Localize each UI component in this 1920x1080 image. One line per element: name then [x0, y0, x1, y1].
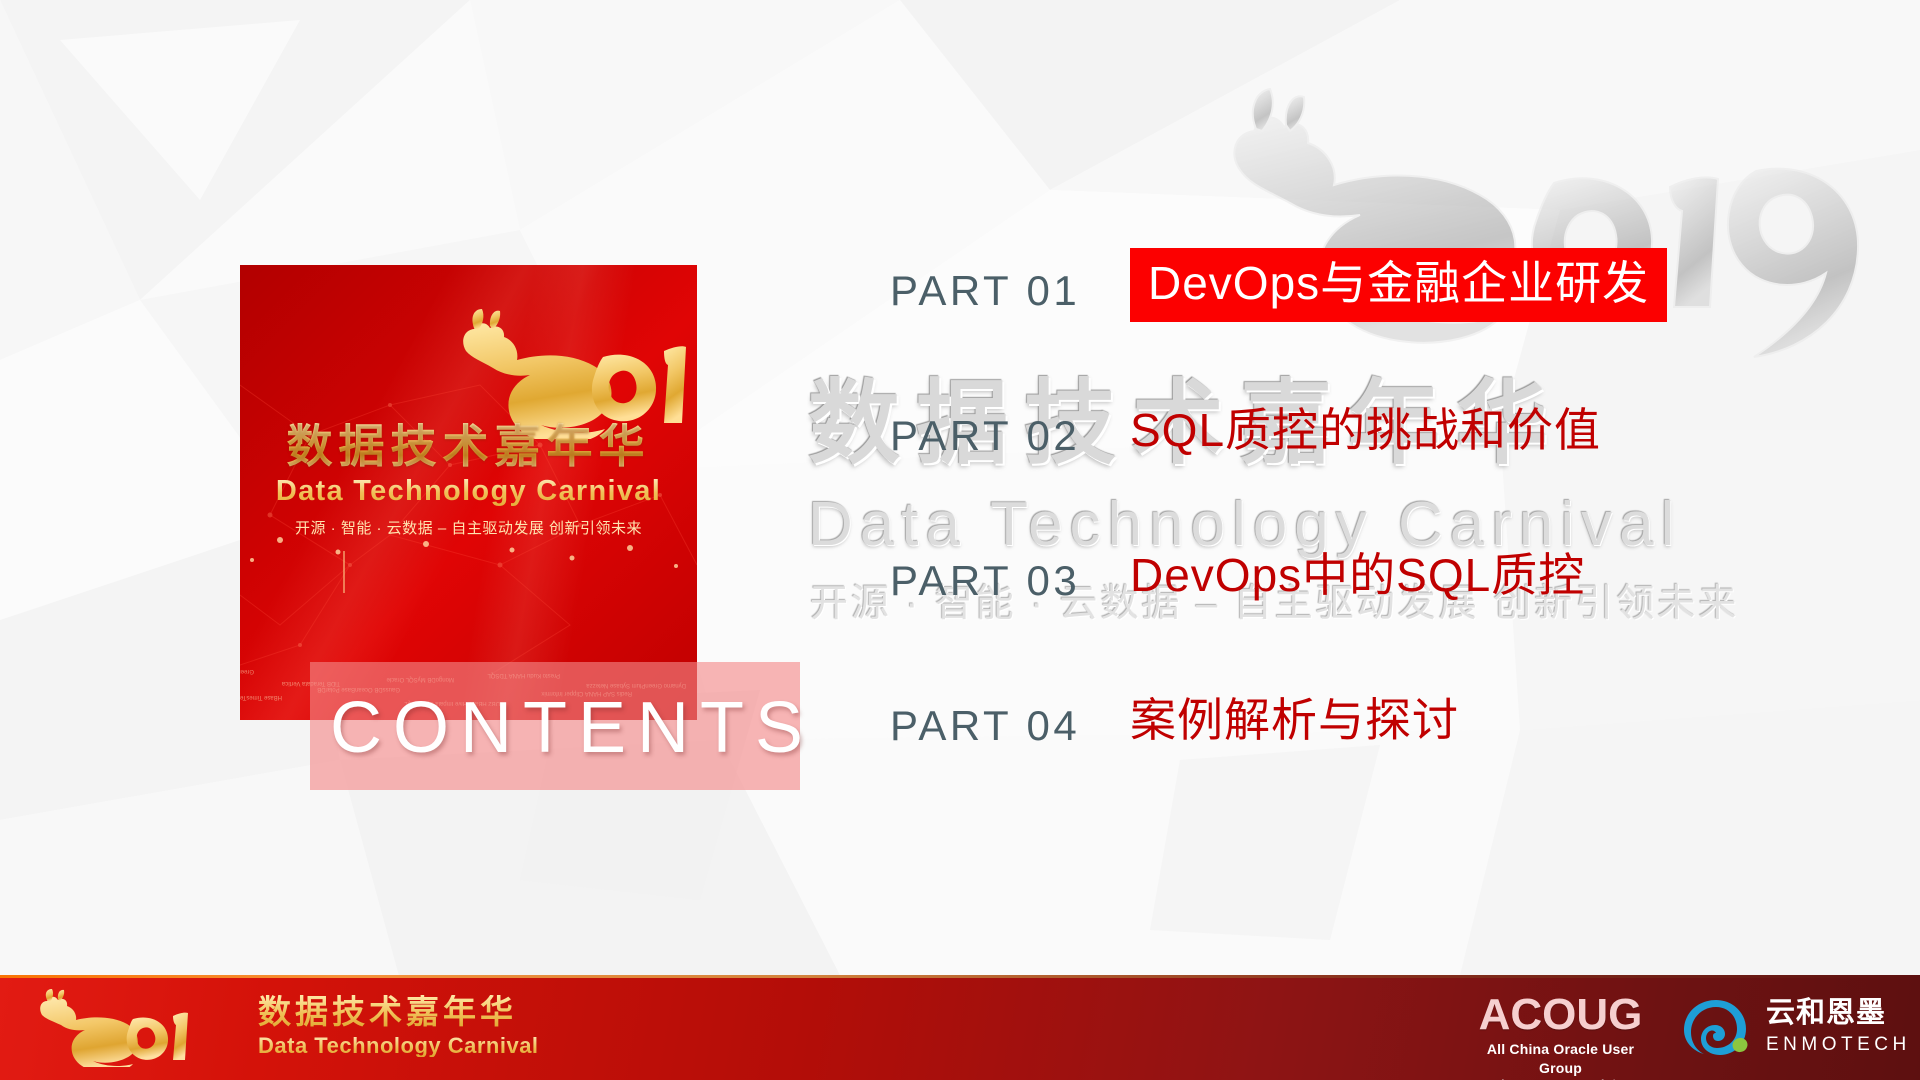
agenda-part-label-4: PART 04: [890, 705, 1080, 747]
acoug-wordmark: ACOUG: [1473, 993, 1648, 1037]
svg-text:Greenplum: Greenplum: [240, 668, 254, 674]
enmotech-name-cn: 云和恩墨: [1766, 999, 1886, 1028]
footer-brand-cn: 数据技术嘉年华: [258, 995, 517, 1028]
agenda-part-label-3: PART 03: [890, 560, 1080, 602]
agenda-part-label-1: PART 01: [890, 270, 1080, 312]
footer-bar: 数据技术嘉年华 Data Technology Carnival ACOUG A…: [0, 975, 1920, 1080]
acoug-subtitle-en: All China Oracle User Group: [1473, 1040, 1648, 1078]
agenda-list: PART 01 DevOps与金融企业研发 PART 02 SQL质控的挑战和价…: [890, 270, 1790, 850]
agenda-part-title-2: SQL质控的挑战和价值: [1130, 407, 1601, 453]
agenda-item-3[interactable]: PART 03 DevOps中的SQL质控: [890, 560, 1790, 705]
agenda-part-title-3: DevOps中的SQL质控: [1130, 552, 1585, 598]
presentation-slide: 数据技术嘉年华 Data Technology Carnival 开源 · 智能…: [0, 0, 1920, 1080]
enmotech-swirl-icon: [1680, 997, 1752, 1059]
enmotech-name-en: ENMOTECH: [1766, 1035, 1911, 1054]
enmotech-logo: 云和恩墨 ENMOTECH: [1680, 993, 1900, 1063]
acoug-logo: ACOUG All China Oracle User Group 中国 Ora…: [1473, 993, 1648, 1080]
agenda-item-2[interactable]: PART 02 SQL质控的挑战和价值: [890, 415, 1790, 560]
agenda-part-label-2: PART 02: [890, 415, 1080, 457]
contents-heading: CONTENTS: [330, 668, 800, 788]
svg-text:HBase TimesTen Cassandra Hive: HBase TimesTen Cassandra Hive MariaDB: [240, 694, 282, 700]
footer-top-accent-line: [0, 975, 1920, 978]
poster-title-en: Data Technology Carnival: [240, 477, 697, 506]
poster-title-cn: 数据技术嘉年华: [240, 423, 697, 469]
agenda-part-title-4: 案例解析与探讨: [1130, 697, 1459, 743]
agenda-item-4[interactable]: PART 04 案例解析与探讨: [890, 705, 1790, 850]
footer-2019-dog-logo: [22, 989, 198, 1067]
event-poster-image: 数据技术嘉年华 Data Technology Carnival 开源 · 智能…: [240, 265, 697, 720]
footer-brand-en: Data Technology Carnival: [258, 1035, 539, 1057]
agenda-item-1[interactable]: PART 01 DevOps与金融企业研发: [890, 270, 1790, 415]
agenda-part-title-1: DevOps与金融企业研发: [1130, 248, 1667, 322]
